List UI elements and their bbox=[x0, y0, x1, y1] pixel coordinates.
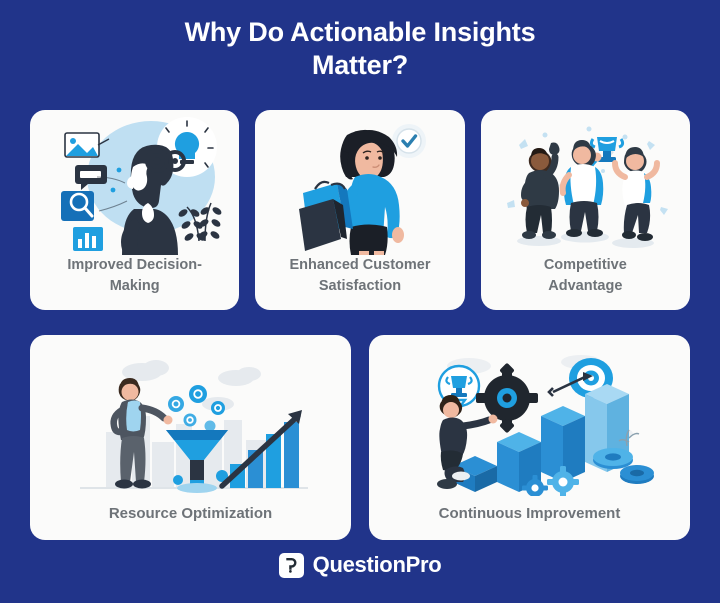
card-caption: Competitive Advantage bbox=[481, 255, 690, 310]
card-continuous-improvement[interactable]: Continuous Improvement bbox=[369, 335, 690, 540]
card-enhanced-customer-satisfaction[interactable]: Enhanced Customer Satisfaction bbox=[255, 110, 464, 310]
card-caption: Enhanced Customer Satisfaction bbox=[255, 255, 464, 310]
card-caption: Resource Optimization bbox=[30, 503, 351, 540]
caption-line-1: Continuous Improvement bbox=[439, 505, 621, 522]
caption-line-1: Resource Optimization bbox=[109, 505, 272, 522]
brand-name: QuestionPro bbox=[313, 552, 442, 578]
caption-line-2: Advantage bbox=[548, 278, 622, 294]
man-climbing-bars-target-icon bbox=[369, 335, 690, 503]
questionpro-logo-icon bbox=[279, 553, 304, 578]
title-line-1: Why Do Actionable Insights bbox=[185, 17, 536, 47]
caption-line-2: Making bbox=[110, 278, 160, 294]
caption-line-2: Satisfaction bbox=[319, 278, 401, 294]
man-funnel-bar-chart-icon bbox=[30, 335, 351, 503]
thinking-man-lightbulb-icon bbox=[30, 110, 239, 255]
cards-row-bottom: Resource Optimization bbox=[30, 335, 690, 540]
cards-row-top: Improved Decision- Making bbox=[30, 110, 690, 310]
card-caption: Continuous Improvement bbox=[369, 503, 690, 540]
footer-brand: QuestionPro bbox=[0, 552, 720, 578]
card-improved-decision-making[interactable]: Improved Decision- Making bbox=[30, 110, 239, 310]
title-line-2: Matter? bbox=[312, 50, 408, 80]
woman-shopping-bags-check-icon bbox=[255, 110, 464, 255]
team-celebrating-trophy-icon bbox=[481, 110, 690, 255]
card-resource-optimization[interactable]: Resource Optimization bbox=[30, 335, 351, 540]
card-competitive-advantage[interactable]: Competitive Advantage bbox=[481, 110, 690, 310]
caption-line-1: Improved Decision- bbox=[67, 257, 202, 273]
caption-line-1: Enhanced Customer bbox=[289, 257, 430, 273]
page-title: Why Do Actionable Insights Matter? bbox=[0, 0, 720, 82]
caption-line-1: Competitive bbox=[544, 257, 627, 273]
card-caption: Improved Decision- Making bbox=[30, 255, 239, 310]
infographic-poster: Why Do Actionable Insights Matter? bbox=[0, 0, 720, 603]
